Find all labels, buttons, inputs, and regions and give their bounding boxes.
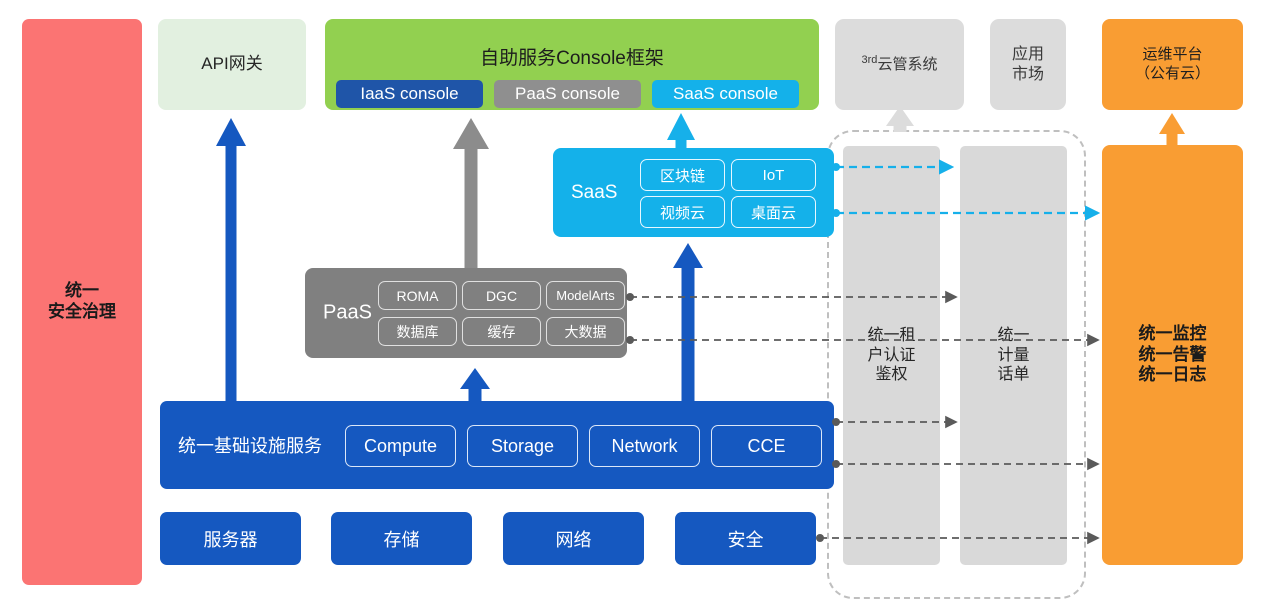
saas-chip-iot[interactable]: IoT <box>731 159 816 191</box>
infra-box-security[interactable]: 安全 <box>675 512 816 565</box>
paas-chip-cache-label: 缓存 <box>488 322 516 342</box>
arrow-saas-to-console <box>667 113 695 150</box>
console-framework-title: 自助服务Console框架 <box>325 43 819 70</box>
infra-box-server-label: 服务器 <box>204 526 258 552</box>
arrow-iaas-to-saas <box>673 243 703 401</box>
paas-chip-roma-label: ROMA <box>397 288 439 304</box>
saas-block-name: SaaS <box>571 182 617 204</box>
paas-chip-database-label: 数据库 <box>397 322 439 342</box>
paas-chip-bigdata-label: 大数据 <box>565 322 607 342</box>
paas-block[interactable]: PaaS ROMA DGC ModelArts 数据库 缓存 大数据 <box>305 268 627 358</box>
unified-tenant-auth-label: 统一租 户认证 鉴权 <box>867 326 915 385</box>
iaas-console-label: IaaS console <box>360 84 458 104</box>
unified-tenant-auth-column[interactable]: 统一租 户认证 鉴权 <box>843 146 940 565</box>
iaas-chip-network[interactable]: Network <box>589 425 700 467</box>
infra-box-network-label: 网络 <box>556 526 592 552</box>
arrow-iaas-to-paas <box>460 368 490 401</box>
arrow-paas-to-console <box>453 118 489 268</box>
paas-chip-modelarts[interactable]: ModelArts <box>546 281 625 310</box>
saas-console-chip[interactable]: SaaS console <box>652 80 799 108</box>
saas-console-label: SaaS console <box>673 84 778 104</box>
security-governance-label: 统一 安全治理 <box>48 281 116 322</box>
iaas-chip-cce[interactable]: CCE <box>711 425 822 467</box>
unified-metering-billing-label: 统一 计量 话单 <box>997 326 1029 385</box>
api-gateway-label: API网关 <box>201 54 262 75</box>
third-party-cloud-mgmt-box[interactable]: 3rd云管系统 <box>835 19 964 110</box>
saas-chip-blockchain[interactable]: 区块链 <box>640 159 725 191</box>
app-market-box[interactable]: 应用 市场 <box>990 19 1066 110</box>
ops-platform-public-cloud-label: 运维平台 （公有云） <box>1135 46 1210 83</box>
saas-chip-blockchain-label: 区块链 <box>660 165 705 186</box>
paas-console-label: PaaS console <box>515 84 620 104</box>
infra-box-network[interactable]: 网络 <box>503 512 644 565</box>
paas-chip-bigdata[interactable]: 大数据 <box>546 317 625 346</box>
paas-chip-dgc[interactable]: DGC <box>462 281 541 310</box>
security-governance-pillar[interactable]: 统一 安全治理 <box>22 19 142 585</box>
paas-chip-modelarts-label: ModelArts <box>556 288 615 303</box>
infra-box-server[interactable]: 服务器 <box>160 512 301 565</box>
api-gateway-box[interactable]: API网关 <box>158 19 306 110</box>
saas-block[interactable]: SaaS 区块链 IoT 视频云 桌面云 <box>553 148 834 237</box>
unified-infrastructure-service-bar[interactable]: 统一基础设施服务 Compute Storage Network CCE <box>160 401 834 489</box>
iaas-chip-compute-label: Compute <box>364 436 437 457</box>
paas-console-chip[interactable]: PaaS console <box>494 80 641 108</box>
saas-chip-desktop-cloud[interactable]: 桌面云 <box>731 196 816 228</box>
saas-chip-desktop-cloud-label: 桌面云 <box>751 202 796 223</box>
iaas-chip-storage-label: Storage <box>491 436 554 457</box>
paas-chip-database[interactable]: 数据库 <box>378 317 457 346</box>
paas-chip-roma[interactable]: ROMA <box>378 281 457 310</box>
infra-box-storage[interactable]: 存储 <box>331 512 472 565</box>
infra-box-storage-label: 存储 <box>384 526 420 552</box>
iaas-chip-storage[interactable]: Storage <box>467 425 578 467</box>
iaas-chip-cce-label: CCE <box>747 436 785 457</box>
infra-box-security-label: 安全 <box>728 526 764 552</box>
unified-ops-label: 统一监控 统一告警 统一日志 <box>1139 324 1207 386</box>
self-service-console-framework[interactable]: 自助服务Console框架 IaaS console PaaS console … <box>325 19 819 110</box>
third-party-cloud-mgmt-text: 云管系统 <box>877 56 937 73</box>
paas-chip-cache[interactable]: 缓存 <box>462 317 541 346</box>
paas-chip-dgc-label: DGC <box>486 288 517 304</box>
iaas-console-chip[interactable]: IaaS console <box>336 80 483 108</box>
saas-chip-video-cloud-label: 视频云 <box>660 202 705 223</box>
iaas-chip-network-label: Network <box>611 436 677 457</box>
unified-infrastructure-service-name: 统一基础设施服务 <box>178 432 322 458</box>
saas-chip-video-cloud[interactable]: 视频云 <box>640 196 725 228</box>
ops-platform-public-cloud-box[interactable]: 运维平台 （公有云） <box>1102 19 1243 110</box>
arrow-iaas-to-api-gateway <box>216 118 246 401</box>
unified-metering-billing-column[interactable]: 统一 计量 话单 <box>960 146 1067 565</box>
saas-chip-iot-label: IoT <box>763 167 785 184</box>
unified-ops-pillar[interactable]: 统一监控 统一告警 统一日志 <box>1102 145 1243 565</box>
app-market-label: 应用 市场 <box>1012 45 1044 84</box>
arrow-ops-pillar-to-ops-platform <box>1159 113 1185 145</box>
third-party-cloud-mgmt-label: 3rd云管系统 <box>862 54 938 74</box>
iaas-chip-compute[interactable]: Compute <box>345 425 456 467</box>
architecture-diagram: 统一 安全治理 API网关 自助服务Console框架 IaaS console… <box>0 0 1265 605</box>
paas-block-name: PaaS <box>323 302 372 325</box>
